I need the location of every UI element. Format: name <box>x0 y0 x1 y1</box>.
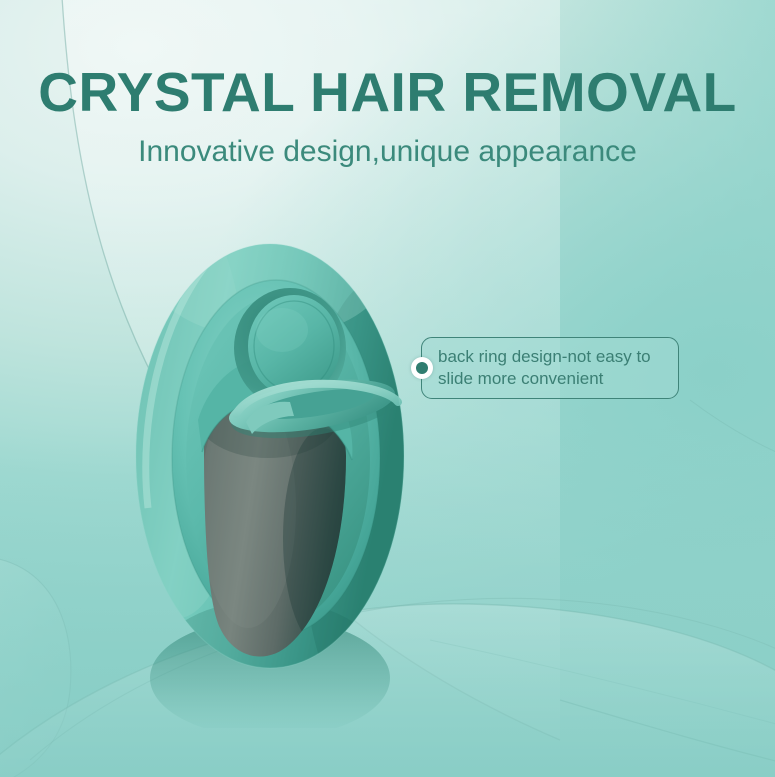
callout-label: back ring design-not easy to slide more … <box>438 346 666 391</box>
page-subtitle: Innovative design,unique appearance <box>0 134 775 170</box>
product-image <box>118 208 438 728</box>
product-banner: CRYSTAL HAIR REMOVAL Innovative design,u… <box>0 0 775 777</box>
crystal-hair-removal-device <box>118 208 438 728</box>
callout-box: back ring design-not easy to slide more … <box>421 337 679 399</box>
callout-dot-icon <box>411 357 433 379</box>
page-title: CRYSTAL HAIR REMOVAL <box>0 64 775 122</box>
